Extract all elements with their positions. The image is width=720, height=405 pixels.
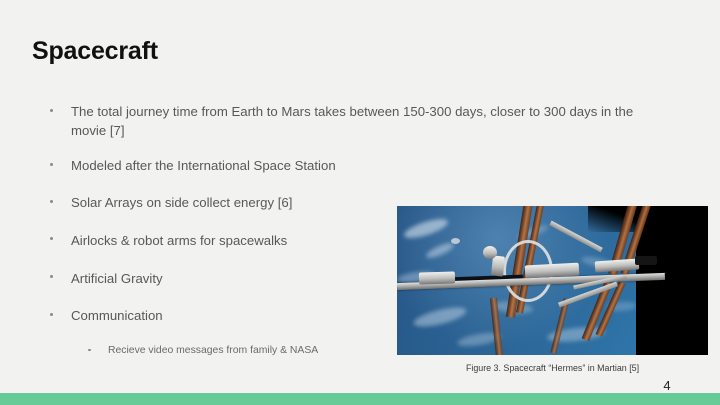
presentation-slide: Spacecraft The total journey time from E… — [0, 0, 720, 405]
list-item-label: Solar Arrays on side collect energy [6] — [71, 195, 292, 210]
bullet-dot-icon — [50, 275, 53, 278]
page-title: Spacecraft — [32, 38, 158, 66]
list-item: The total journey time from Earth to Mar… — [46, 103, 656, 140]
station-module — [419, 271, 455, 284]
sub-list-item-label: Recieve video messages from family & NAS… — [108, 345, 318, 356]
bullet-dot-icon — [50, 200, 53, 203]
debris-speck — [451, 238, 460, 244]
figure-caption: Figure 3. Spacecraft “Hermes” in Martian… — [397, 363, 708, 373]
list-item-label: Artificial Gravity — [71, 271, 163, 286]
list-item: Modeled after the International Space St… — [46, 157, 656, 176]
figure-block — [397, 206, 708, 355]
list-item-label: Communication — [71, 308, 163, 323]
bullet-dot-icon — [50, 313, 53, 316]
list-item-label: The total journey time from Earth to Mar… — [71, 104, 633, 138]
bullet-dot-icon — [50, 237, 53, 240]
page-number: 4 — [655, 378, 679, 393]
bullet-dot-icon — [50, 163, 53, 166]
list-item-label: Airlocks & robot arms for spacewalks — [71, 233, 287, 248]
spacecraft-photo — [397, 206, 708, 355]
bullet-dot-icon — [50, 109, 53, 112]
list-item-label: Modeled after the International Space St… — [71, 158, 336, 173]
bullet-dot-icon — [88, 349, 91, 352]
station-module — [635, 256, 657, 265]
station-module — [491, 255, 505, 276]
station-module — [483, 246, 497, 259]
bottom-accent-bar — [0, 393, 720, 405]
